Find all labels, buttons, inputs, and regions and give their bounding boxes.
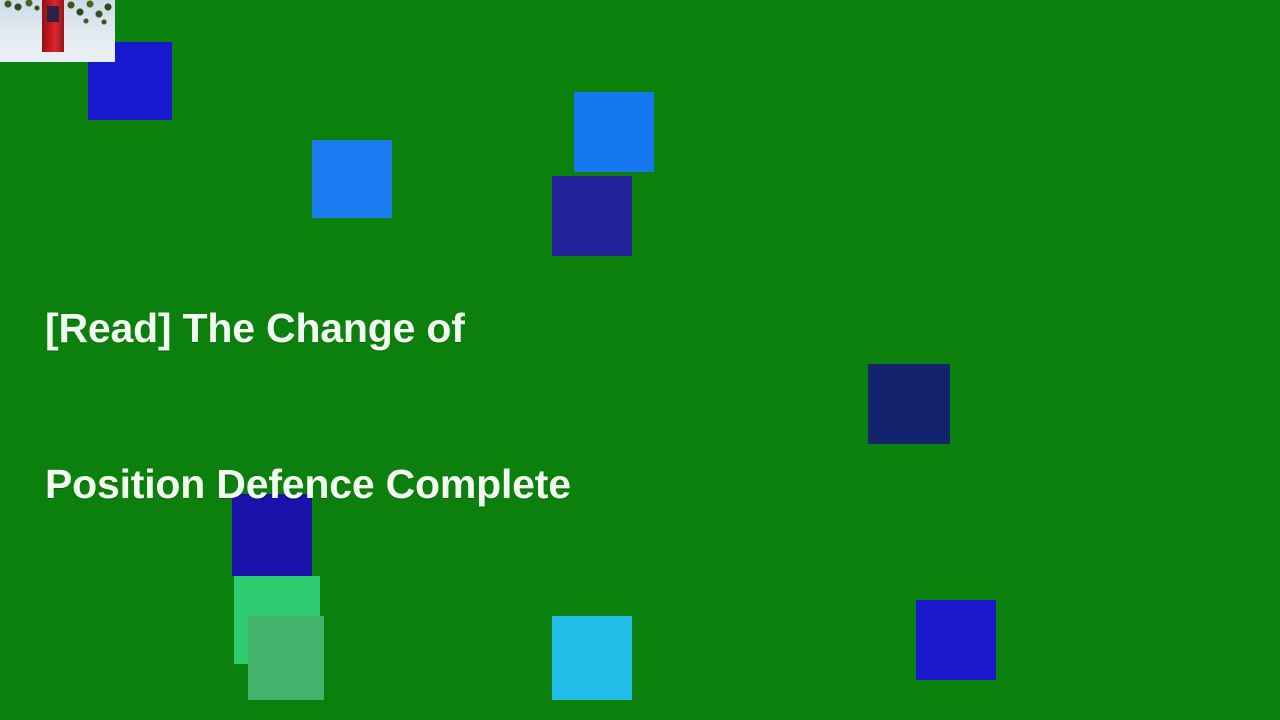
photo-foliage-left <box>2 0 42 12</box>
title-line-2: Position Defence Complete <box>45 458 745 510</box>
photo-foliage-right <box>66 0 115 26</box>
photo-fragment-thumbnail <box>0 0 115 62</box>
video-thumbnail-frame: [Read] The Change of Position Defence Co… <box>0 0 1280 720</box>
photo-window <box>47 6 59 22</box>
square-cyan-bottom-center <box>552 616 632 700</box>
title-overlay: [Read] The Change of Position Defence Co… <box>45 198 745 614</box>
square-blue-bottom-right <box>916 600 996 680</box>
square-navy-right <box>868 364 950 444</box>
square-lightblue-upper-center <box>574 92 654 172</box>
square-green-pale <box>248 616 324 700</box>
photo-snow-ground <box>0 52 115 62</box>
title-line-1: [Read] The Change of <box>45 302 745 354</box>
